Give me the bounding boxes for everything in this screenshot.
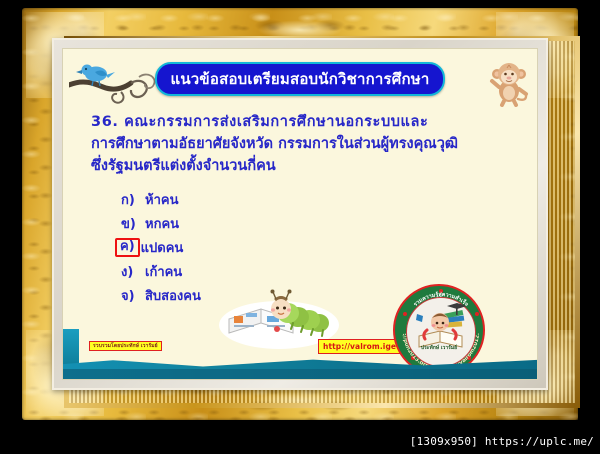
quiz-slide: แนวข้อสอบเตรียมสอบนักวิชาการศึกษา — [62, 48, 538, 380]
choice-label: สิบสองคน — [145, 285, 201, 306]
slide-bottom-band — [63, 369, 538, 379]
choice-item[interactable]: ง) เก้าคน — [119, 261, 459, 282]
choice-item[interactable]: ข) หกคน — [119, 213, 459, 234]
site-seal-logo: รวมความรู้สู่ความสำเร็จ http://pun2013.b… — [393, 284, 485, 376]
slide-header: แนวข้อสอบเตรียมสอบนักวิชาการศึกษา — [63, 55, 538, 107]
choice-label: หกคน — [145, 213, 179, 234]
watermark-text: [1309x950] https://uplc.me/ — [410, 435, 594, 448]
choice-label: ห้าคน — [145, 189, 178, 210]
choice-item[interactable]: ก) ห้าคน — [119, 189, 459, 210]
question-line-1: 36. คณะกรรมการส่งเสริมการศึกษานอกระบบและ — [91, 111, 511, 133]
monkey-icon — [485, 57, 533, 107]
choice-tag: ข) — [119, 212, 141, 235]
choice-label: แปดคน — [141, 237, 184, 258]
author-credit-text: รวบรวมโดยประทักษ์ เวารัมย์ — [93, 343, 158, 349]
choice-item-selected[interactable]: ค) แปดคน — [119, 237, 459, 258]
question-line-3: ซึ่งรัฐมนตรีแต่งตั้งจำนวนกี่คน — [91, 155, 511, 177]
choice-tag: ก) — [119, 188, 141, 211]
screenshot-canvas: แนวข้อสอบเตรียมสอบนักวิชาการศึกษา — [0, 0, 600, 454]
question-text: 36. คณะกรรมการส่งเสริมการศึกษานอกระบบและ… — [91, 111, 511, 177]
choice-tag: ง) — [119, 260, 141, 283]
slide-title: แนวข้อสอบเตรียมสอบนักวิชาการศึกษา — [170, 72, 429, 87]
choice-tag: จ) — [119, 284, 141, 307]
swirl-branch-icon — [69, 59, 165, 107]
choice-label: เก้าคน — [145, 261, 182, 282]
author-credit-box: รวบรวมโดยประทักษ์ เวารัมย์ — [89, 341, 162, 351]
question-line-2: การศึกษาตามอัธยาศัยจังหวัด กรรมการในส่วน… — [91, 133, 511, 155]
slide-title-banner: แนวข้อสอบเตรียมสอบนักวิชาการศึกษา — [155, 62, 445, 96]
seal-caption: ประทักษ์ เวารัมย์ — [395, 344, 483, 352]
choice-tag-highlight: ค) — [115, 238, 140, 257]
seal-emblem-icon — [413, 302, 469, 348]
